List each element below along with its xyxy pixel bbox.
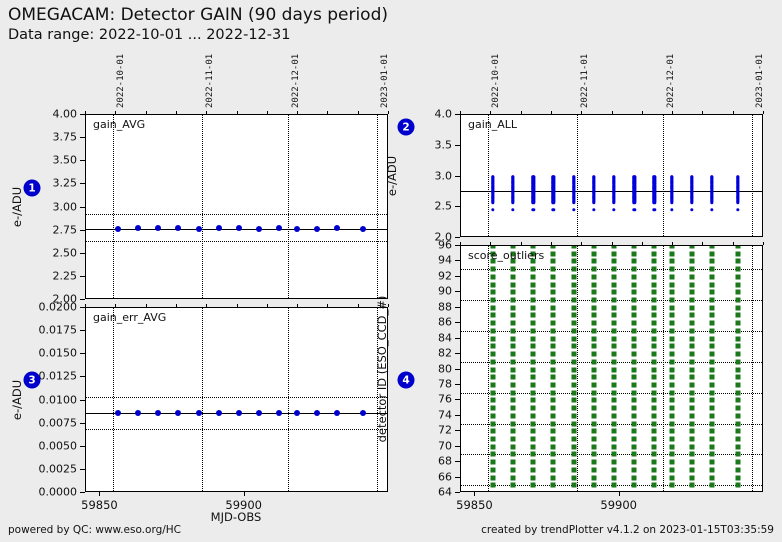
y-tick-mark	[80, 253, 85, 254]
outlier-marker	[736, 282, 741, 287]
outlier-marker	[689, 274, 694, 279]
outlier-marker	[510, 436, 515, 441]
y-tick-mark	[80, 492, 85, 493]
outlier-marker	[689, 421, 694, 426]
data-point-outlier	[552, 208, 555, 211]
outlier-marker	[669, 321, 674, 326]
outlier-marker	[591, 290, 596, 295]
outlier-marker	[611, 367, 616, 372]
data-point	[216, 225, 222, 231]
outlier-marker	[571, 444, 576, 449]
outlier-marker	[710, 267, 715, 272]
outlier-marker	[531, 298, 536, 303]
x-tick-label: 59850	[81, 498, 118, 512]
outlier-marker	[710, 413, 715, 418]
outlier-marker	[669, 375, 674, 380]
outlier-marker	[551, 267, 556, 272]
outlier-marker	[669, 367, 674, 372]
outlier-marker	[632, 406, 637, 411]
outlier-marker	[531, 382, 536, 387]
outlier-marker	[510, 413, 515, 418]
outlier-marker	[531, 475, 536, 480]
outlier-marker	[736, 305, 741, 310]
outlier-marker	[490, 375, 495, 380]
outlier-marker	[531, 305, 536, 310]
x-minor-tick	[146, 111, 147, 114]
data-point	[236, 410, 242, 416]
outlier-marker	[551, 452, 556, 457]
outlier-marker	[551, 298, 556, 303]
outlier-marker	[632, 359, 637, 364]
outlier-marker	[710, 282, 715, 287]
outlier-marker	[652, 467, 657, 472]
outlier-marker	[490, 398, 495, 403]
outlier-marker	[531, 344, 536, 349]
data-point	[196, 226, 202, 232]
y-tick-label: 72	[412, 424, 452, 437]
outlier-marker	[551, 421, 556, 426]
outlier-marker	[531, 429, 536, 434]
y-tick-label: 96	[412, 239, 452, 252]
outlier-marker	[531, 336, 536, 341]
outlier-marker	[551, 467, 556, 472]
data-point-outlier	[736, 208, 739, 211]
outlier-marker	[531, 406, 536, 411]
y-tick-mark	[455, 145, 460, 146]
outlier-marker	[632, 282, 637, 287]
outlier-marker	[510, 267, 515, 272]
date-gridline-0	[113, 308, 114, 491]
outlier-marker	[551, 367, 556, 372]
outlier-marker	[510, 274, 515, 279]
outlier-marker	[490, 390, 495, 395]
outlier-marker	[591, 336, 596, 341]
outlier-marker	[652, 321, 657, 326]
y-tick-mark	[455, 322, 460, 323]
y-tick-mark	[455, 353, 460, 354]
outlier-marker	[736, 436, 741, 441]
data-point	[294, 410, 300, 416]
outlier-marker	[632, 382, 637, 387]
outlier-marker	[611, 444, 616, 449]
plot-frame-gain_AVG: gain_AVG	[85, 114, 388, 299]
y-tick-label: 94	[412, 254, 452, 267]
outlier-marker	[632, 475, 637, 480]
y-tick-label: 2.50	[37, 246, 77, 259]
x-minor-tick	[146, 304, 147, 307]
outlier-marker	[652, 282, 657, 287]
outlier-marker	[611, 460, 616, 465]
outlier-marker	[591, 460, 596, 465]
x-minor-tick	[733, 111, 734, 114]
y-tick-label: 2.75	[37, 223, 77, 236]
outlier-marker	[591, 267, 596, 272]
date-tick-label: 2022-10-01	[116, 54, 126, 108]
outlier-marker	[632, 321, 637, 326]
outlier-marker	[669, 460, 674, 465]
outlier-marker	[611, 436, 616, 441]
outlier-marker	[710, 367, 715, 372]
y-tick-mark	[455, 461, 460, 462]
outlier-marker	[510, 328, 515, 333]
y-tick-label: 4.0	[412, 108, 452, 121]
y-tick-mark	[455, 245, 460, 246]
x-minor-tick	[702, 242, 703, 245]
outlier-marker	[510, 452, 515, 457]
data-point	[314, 226, 320, 232]
outlier-marker	[652, 245, 657, 249]
date-gridline-1	[577, 115, 578, 236]
outlier-marker	[736, 290, 741, 295]
outlier-marker	[669, 305, 674, 310]
threshold-line-1	[86, 397, 387, 398]
outlier-marker	[531, 444, 536, 449]
outlier-marker	[710, 352, 715, 357]
outlier-marker	[551, 460, 556, 465]
outlier-marker	[551, 413, 556, 418]
y-tick-label: 3.25	[37, 177, 77, 190]
outlier-marker	[591, 390, 596, 395]
y-tick-label: 3.5	[412, 138, 452, 151]
outlier-marker	[652, 375, 657, 380]
outlier-marker	[591, 282, 596, 287]
x-minor-tick	[115, 111, 116, 114]
outlier-marker	[652, 475, 657, 480]
plot-frame-score_outliers: score_outliers	[460, 245, 763, 492]
y-tick-label: 64	[412, 486, 452, 499]
y-axis-label: e-/ADU	[385, 155, 399, 195]
outlier-marker	[632, 328, 637, 333]
outlier-marker	[710, 444, 715, 449]
badge-1[interactable]: 1	[24, 180, 41, 197]
outlier-marker	[710, 483, 715, 488]
y-tick-mark	[455, 276, 460, 277]
outlier-marker	[632, 444, 637, 449]
outlier-marker	[551, 321, 556, 326]
x-minor-tick	[581, 242, 582, 245]
y-tick-label: 2.5	[412, 200, 452, 213]
outlier-marker	[689, 298, 694, 303]
outlier-marker	[632, 313, 637, 318]
y-tick-mark	[80, 276, 85, 277]
x-minor-tick	[176, 304, 177, 307]
outlier-marker	[669, 390, 674, 395]
outlier-marker	[669, 467, 674, 472]
plot-label-gain_AVG: gain_AVG	[93, 118, 145, 131]
data-point-outlier	[653, 208, 656, 211]
outlier-marker	[611, 298, 616, 303]
outlier-marker	[531, 313, 536, 318]
outlier-marker	[736, 328, 741, 333]
outlier-marker	[531, 390, 536, 395]
outlier-marker	[669, 436, 674, 441]
outlier-marker	[710, 429, 715, 434]
data-point	[236, 225, 242, 231]
outlier-marker	[689, 313, 694, 318]
outlier-marker	[490, 460, 495, 465]
outlier-marker	[632, 367, 637, 372]
outlier-marker	[611, 413, 616, 418]
outlier-marker	[571, 382, 576, 387]
outlier-marker	[611, 483, 616, 488]
footer-credit: powered by QC: www.eso.org/HC	[8, 524, 181, 536]
outlier-marker	[531, 352, 536, 357]
data-point	[294, 226, 300, 232]
data-point	[155, 410, 161, 416]
badge-3[interactable]: 3	[24, 372, 41, 389]
outlier-marker	[689, 398, 694, 403]
outlier-marker	[490, 444, 495, 449]
outlier-marker	[689, 429, 694, 434]
outlier-marker	[652, 274, 657, 279]
data-point	[276, 410, 282, 416]
x-minor-tick	[551, 242, 552, 245]
outlier-marker	[531, 367, 536, 372]
threshold-line-0	[86, 241, 387, 242]
outlier-marker	[571, 305, 576, 310]
x-minor-tick	[642, 111, 643, 114]
outlier-marker	[611, 475, 616, 480]
outlier-marker	[591, 305, 596, 310]
outlier-marker	[591, 251, 596, 256]
outlier-marker	[652, 305, 657, 310]
outlier-marker	[591, 483, 596, 488]
outlier-marker	[669, 282, 674, 287]
outlier-marker	[551, 375, 556, 380]
outlier-marker	[510, 245, 515, 249]
page-subtitle: Data range: 2022-10-01 ... 2022-12-31	[8, 26, 388, 45]
outlier-marker	[736, 406, 741, 411]
outlier-marker	[611, 245, 616, 249]
outlier-marker	[669, 259, 674, 264]
outlier-marker	[669, 274, 674, 279]
outlier-marker	[611, 313, 616, 318]
outlier-marker	[632, 452, 637, 457]
outlier-marker	[669, 290, 674, 295]
data-point-outlier	[710, 208, 713, 211]
y-axis-label: e-/ADU	[10, 379, 24, 419]
outlier-marker	[571, 367, 576, 372]
outlier-marker	[611, 375, 616, 380]
outlier-marker	[571, 452, 576, 457]
outlier-marker	[510, 398, 515, 403]
y-tick-label: 76	[412, 393, 452, 406]
y-tick-mark	[80, 376, 85, 377]
outlier-marker	[571, 336, 576, 341]
x-minor-tick	[85, 304, 86, 307]
y-tick-label: 82	[412, 347, 452, 360]
outlier-marker	[591, 436, 596, 441]
outlier-marker	[689, 367, 694, 372]
outlier-marker	[510, 321, 515, 326]
date-tick-label: 2022-11-01	[205, 54, 215, 108]
outlier-marker	[490, 352, 495, 357]
outlier-marker	[669, 421, 674, 426]
outlier-marker	[611, 359, 616, 364]
outlier-marker	[510, 359, 515, 364]
outlier-marker	[689, 282, 694, 287]
outlier-marker	[490, 267, 495, 272]
outlier-marker	[710, 359, 715, 364]
y-tick-mark	[80, 160, 85, 161]
outlier-marker	[611, 259, 616, 264]
data-point	[115, 226, 121, 232]
outlier-marker	[591, 298, 596, 303]
outlier-marker	[510, 344, 515, 349]
x-minor-tick	[327, 304, 328, 307]
outlier-marker	[611, 390, 616, 395]
outlier-marker	[611, 251, 616, 256]
outlier-marker	[510, 429, 515, 434]
data-point	[360, 226, 366, 232]
outlier-marker	[571, 475, 576, 480]
outlier-marker	[689, 413, 694, 418]
outlier-marker	[652, 436, 657, 441]
data-point-outlier	[690, 208, 693, 211]
outlier-marker	[490, 421, 495, 426]
y-tick-mark	[80, 423, 85, 424]
outlier-marker	[632, 467, 637, 472]
y-tick-mark	[455, 260, 460, 261]
outlier-marker	[736, 352, 741, 357]
outlier-marker	[669, 382, 674, 387]
outlier-marker	[689, 467, 694, 472]
y-tick-label: 70	[412, 439, 452, 452]
date-gridline-0	[113, 115, 114, 298]
date-tick-label: 2022-12-01	[291, 54, 301, 108]
threshold-line-1	[86, 214, 387, 215]
outlier-marker	[632, 429, 637, 434]
outlier-marker	[611, 267, 616, 272]
y-tick-mark	[455, 206, 460, 207]
outlier-marker	[632, 375, 637, 380]
outlier-marker	[510, 444, 515, 449]
x-minor-tick	[267, 304, 268, 307]
outlier-marker	[531, 359, 536, 364]
y-tick-mark	[455, 237, 460, 238]
outlier-marker	[571, 375, 576, 380]
outlier-marker	[669, 313, 674, 318]
outlier-marker	[736, 267, 741, 272]
outlier-marker	[510, 305, 515, 310]
outlier-marker	[632, 398, 637, 403]
outlier-marker	[571, 274, 576, 279]
outlier-marker	[591, 421, 596, 426]
outlier-marker	[591, 413, 596, 418]
plot-label-gain_ALL: gain_ALL	[468, 118, 517, 131]
outlier-marker	[736, 313, 741, 318]
outlier-marker	[669, 352, 674, 357]
outlier-marker	[736, 452, 741, 457]
outlier-marker	[551, 483, 556, 488]
outlier-marker	[710, 336, 715, 341]
outlier-marker	[710, 313, 715, 318]
outlier-marker	[736, 467, 741, 472]
x-minor-tick	[267, 111, 268, 114]
plot-panel-gain_ALL: gain_ALL	[460, 114, 763, 237]
outlier-marker	[611, 282, 616, 287]
y-tick-label: 92	[412, 269, 452, 282]
date-tick-label: 2023-01-01	[755, 54, 765, 108]
outlier-marker	[736, 367, 741, 372]
outlier-marker	[531, 328, 536, 333]
outlier-marker	[652, 259, 657, 264]
x-minor-tick	[551, 111, 552, 114]
outlier-marker	[531, 274, 536, 279]
outlier-marker	[551, 398, 556, 403]
outlier-marker	[710, 375, 715, 380]
outlier-marker	[632, 460, 637, 465]
outlier-marker	[736, 359, 741, 364]
y-tick-label: 88	[412, 300, 452, 313]
outlier-marker	[510, 367, 515, 372]
outlier-marker	[689, 460, 694, 465]
y-tick-label: 2.25	[37, 269, 77, 282]
y-tick-label: 90	[412, 285, 452, 298]
outlier-marker	[611, 344, 616, 349]
outlier-marker	[632, 245, 637, 249]
outlier-marker	[551, 344, 556, 349]
date-tick-label: 2022-11-01	[580, 54, 590, 108]
y-tick-label: 68	[412, 455, 452, 468]
y-tick-label: 78	[412, 377, 452, 390]
x-minor-tick	[237, 111, 238, 114]
outlier-marker	[710, 328, 715, 333]
outlier-marker	[652, 313, 657, 318]
outlier-marker	[689, 336, 694, 341]
date-gridline-2	[288, 115, 289, 298]
outlier-marker	[669, 251, 674, 256]
outlier-marker	[689, 290, 694, 295]
x-minor-tick	[521, 242, 522, 245]
outlier-marker	[611, 398, 616, 403]
date-gridline-3	[752, 115, 753, 236]
outlier-marker	[531, 436, 536, 441]
plot-panel-gain_AVG: gain_AVG	[85, 114, 388, 299]
outlier-marker	[669, 475, 674, 480]
data-point-outlier	[632, 208, 635, 211]
outlier-marker	[736, 398, 741, 403]
outlier-marker	[571, 406, 576, 411]
outlier-marker	[591, 359, 596, 364]
x-tick-mark	[474, 492, 475, 496]
outlier-marker	[591, 352, 596, 357]
data-point-outlier	[670, 208, 673, 211]
outlier-marker	[490, 298, 495, 303]
outlier-marker	[551, 274, 556, 279]
outlier-marker	[710, 390, 715, 395]
outlier-marker	[710, 436, 715, 441]
data-point	[314, 410, 320, 416]
outlier-marker	[591, 452, 596, 457]
outlier-marker	[736, 321, 741, 326]
outlier-marker	[611, 274, 616, 279]
outlier-marker	[591, 375, 596, 380]
data-point	[135, 410, 141, 416]
outlier-marker	[710, 251, 715, 256]
outlier-marker	[510, 298, 515, 303]
x-minor-tick	[763, 242, 764, 245]
x-tick-mark	[244, 492, 245, 496]
badge-2[interactable]: 2	[398, 119, 415, 136]
badge-4[interactable]: 4	[398, 372, 415, 389]
date-tick-label: 2022-10-01	[491, 54, 501, 108]
date-tick-label: 2023-01-01	[380, 54, 390, 108]
x-minor-tick	[388, 111, 389, 114]
date-gridline-2	[663, 115, 664, 236]
outlier-marker	[490, 290, 495, 295]
outlier-marker	[736, 375, 741, 380]
